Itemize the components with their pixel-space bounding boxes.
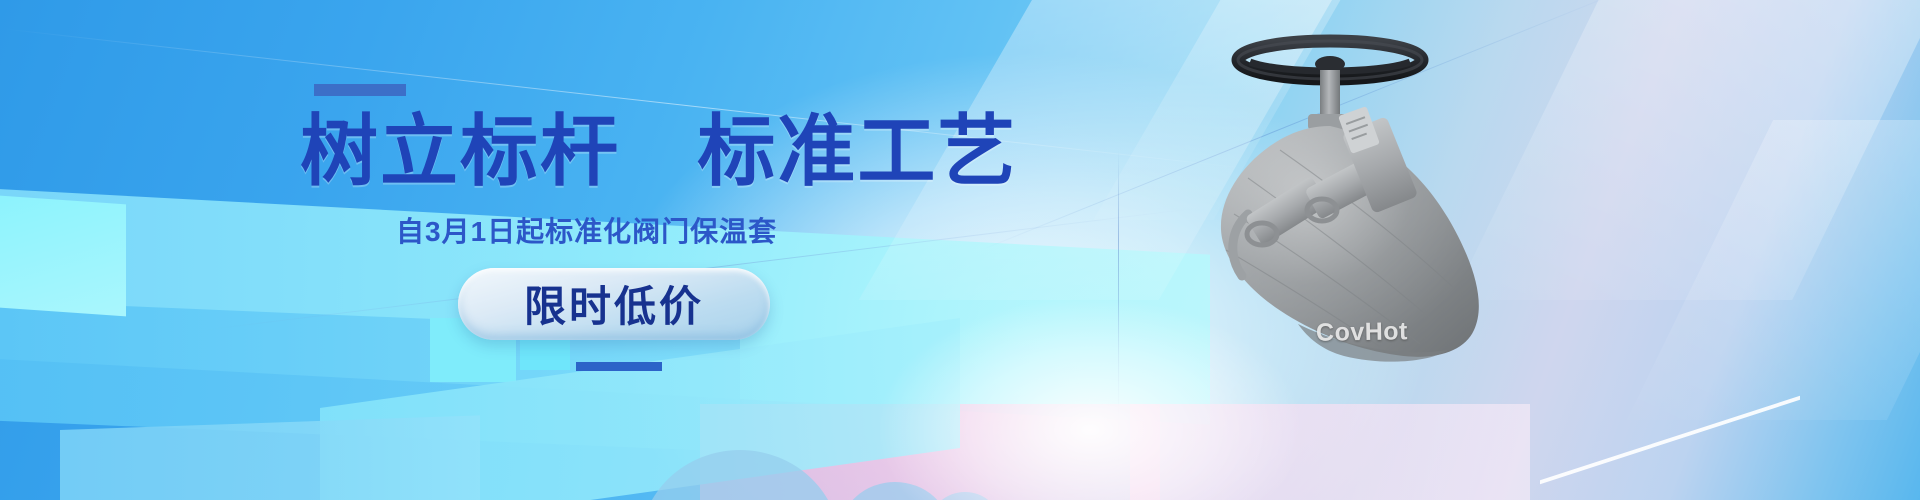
background-chevron-right [1540,396,1800,500]
background-bubble-medium [840,482,950,500]
banner-subtitle: 自3月1日起标准化阀门保温套 [396,210,960,250]
banner-content: 树立标杆 标准工艺 自3月1日起标准化阀门保温套 限时低价 [300,84,960,371]
background-bubble-large [640,450,840,500]
product-image-valve-insulation-jacket: CovHot [1130,18,1550,458]
limited-time-offer-button[interactable]: 限时低价 [458,268,770,340]
background-bubble-small [930,492,1000,500]
headline-top-rule [314,84,406,96]
background-diagonal-highlight-4 [1627,120,1920,420]
promo-banner: 树立标杆 标准工艺 自3月1日起标准化阀门保温套 限时低价 [0,0,1920,500]
cta-bottom-rule [576,362,662,371]
background-band-bottom-blue [60,415,480,500]
background-vertical-divider [1118,150,1119,450]
background-pink-panel-left [700,404,1160,500]
headline-segment-2: 标准工艺 [697,107,1017,195]
banner-headline: 树立标杆 标准工艺 [300,112,960,192]
cta-container: 限时低价 [458,268,960,340]
background-chip-cyan-left [0,196,126,317]
headline-segment-1: 树立标杆 [300,107,620,195]
